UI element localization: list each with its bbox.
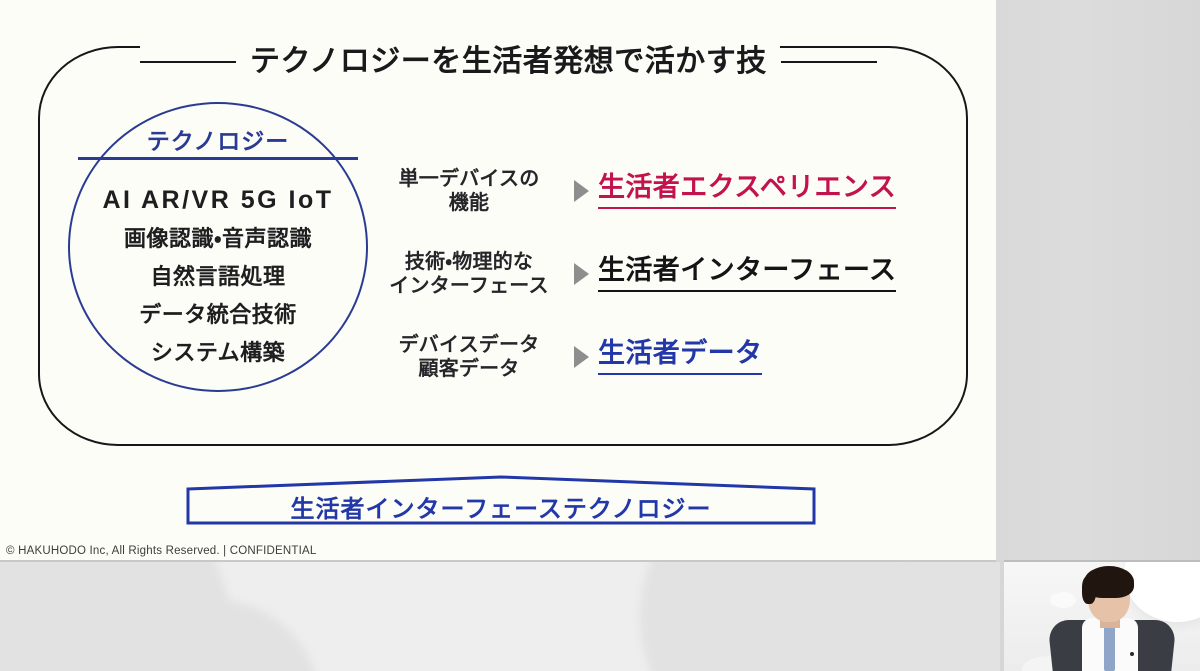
- mapping-source-line: 技術・物理的な: [374, 250, 564, 274]
- mapping-row: デバイスデータ 顧客データ 生活者データ: [374, 318, 954, 396]
- technology-divider: [78, 157, 358, 160]
- mapping-source-line: 機能: [374, 191, 564, 215]
- list-item: システム構築: [68, 334, 368, 372]
- presenter-hair-side: [1082, 576, 1096, 604]
- mapping-target: 生活者エクスペリエンス: [598, 173, 896, 210]
- mapping-source-line: デバイスデータ: [374, 333, 564, 357]
- triangle-right-icon: [564, 263, 598, 285]
- title-rule-right: [781, 61, 877, 64]
- screencast-frame: テクノロジーを生活者発想で活かす技 テクノロジー AI AR/VR 5G IoT…: [0, 0, 1200, 671]
- presenter-tie: [1104, 622, 1115, 671]
- mapping-source: 技術・物理的な インターフェース: [374, 250, 564, 299]
- summary-banner-label: 生活者インターフェーステクノロジー: [186, 489, 816, 524]
- mapping-source-line: インターフェース: [374, 274, 564, 298]
- summary-banner: 生活者インターフェーステクノロジー: [186, 475, 816, 525]
- slide-footer: © HAKUHODO Inc, All Rights Reserved. | C…: [6, 545, 317, 557]
- presentation-slide: テクノロジーを生活者発想で活かす技 テクノロジー AI AR/VR 5G IoT…: [0, 0, 996, 562]
- technology-item-list: AI AR/VR 5G IoT 画像認識・音声認識 自然言語処理 データ統合技術…: [68, 180, 368, 372]
- mapping-source: 単一デバイスの 機能: [374, 167, 564, 216]
- list-item: データ統合技術: [68, 296, 368, 334]
- lapel-mic-icon: [1130, 652, 1134, 656]
- mapping-target: 生活者データ: [598, 339, 762, 376]
- mapping-rows: 単一デバイスの 機能 生活者エクスペリエンス 技術・物理的な インターフェース …: [374, 152, 954, 401]
- page-title: テクノロジーを生活者発想で活かす技: [250, 47, 767, 77]
- mapping-source-line: 単一デバイスの: [374, 167, 564, 191]
- right-side-panel: [996, 0, 1200, 560]
- technology-heading: テクノロジー: [68, 122, 368, 156]
- triangle-right-icon: [564, 346, 598, 368]
- mapping-row: 単一デバイスの 機能 生活者エクスペリエンス: [374, 152, 954, 230]
- list-item: AI AR/VR 5G IoT: [68, 180, 368, 220]
- mapping-row: 技術・物理的な インターフェース 生活者インターフェース: [374, 235, 954, 313]
- presenter-video-tile[interactable]: [1004, 560, 1200, 671]
- list-item: 画像認識・音声認識: [68, 220, 368, 258]
- studio-background-strip: [0, 562, 1000, 671]
- triangle-right-icon: [564, 180, 598, 202]
- video-tile-edge: [1004, 560, 1200, 562]
- mapping-target: 生活者インターフェース: [598, 256, 896, 293]
- studio-lamp: [1050, 592, 1076, 608]
- list-item: 自然言語処理: [68, 258, 368, 296]
- mapping-source-line: 顧客データ: [374, 357, 564, 381]
- slide-title-row: テクノロジーを生活者発想で活かす技: [140, 40, 840, 84]
- mapping-source: デバイスデータ 顧客データ: [374, 333, 564, 382]
- title-rule-left: [140, 61, 236, 64]
